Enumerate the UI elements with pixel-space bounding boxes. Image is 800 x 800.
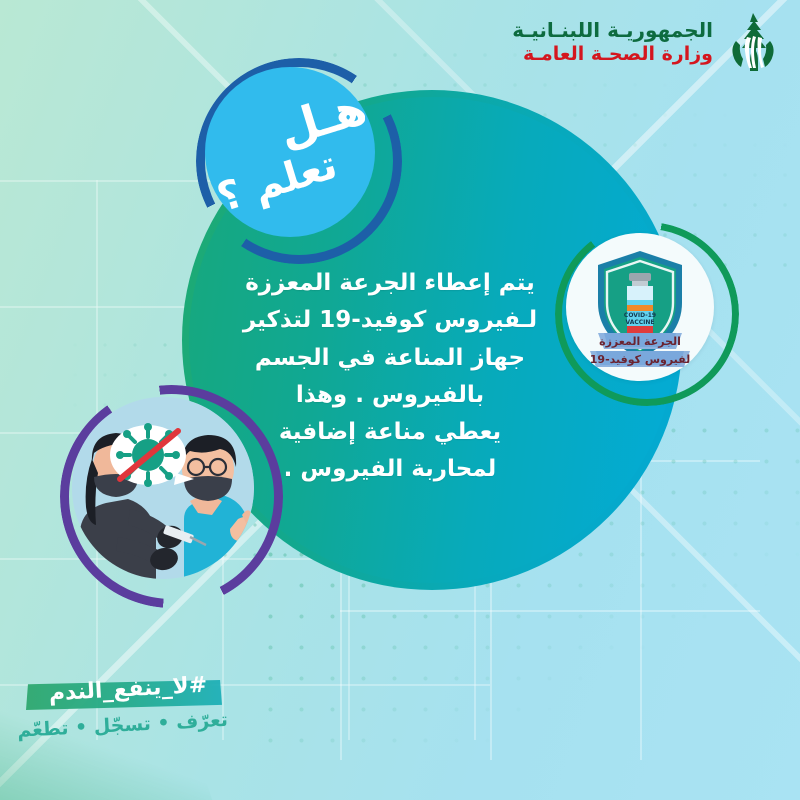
campaign-lockup: #لا_ينفع_الندم تعرّف • تسجّل • تطعّم bbox=[18, 676, 268, 758]
did-you-know-text: هـل تعلم ؟ bbox=[215, 82, 365, 222]
vaccination-photo bbox=[72, 397, 254, 579]
ministry-logo-text: الجمهوريـة اللبنـانيـة وزارة الصحـة العا… bbox=[512, 18, 713, 66]
badge-line-2: تعلم ؟ bbox=[215, 142, 342, 222]
vial-label-line-2: VACCINE bbox=[625, 319, 654, 326]
cedar-tree-icon bbox=[722, 11, 784, 73]
body-line-3: جهاز المناعة في الجسم bbox=[210, 340, 570, 377]
did-you-know-badge: هـل تعلم ؟ bbox=[205, 67, 375, 237]
vial-label-line-1: COVID-19 bbox=[624, 312, 656, 319]
ministry-label: وزارة الصحـة العامـة bbox=[512, 43, 713, 66]
body-line-2: لـفيروس كوفيد-19 لتذكير bbox=[210, 302, 570, 339]
republic-label: الجمهوريـة اللبنـانيـة bbox=[512, 18, 713, 42]
ribbon-bottom-text: لفيروس كوفيد-19 bbox=[590, 353, 690, 366]
vaccine-medallion: COVID-19 VACCINE الجرعة المعززة لفيروس ك… bbox=[566, 233, 714, 381]
body-line-1: يتم إعطاء الجرعة المعززة bbox=[210, 265, 570, 302]
ribbon-top-text: الجرعة المعززة bbox=[599, 335, 681, 348]
campaign-tagline: تعرّف • تسجّل • تطعّم bbox=[28, 709, 229, 741]
shield-vaccine-vial-icon: COVID-19 VACCINE الجرعة المعززة لفيروس ك… bbox=[574, 241, 706, 373]
vaccination-illustration bbox=[72, 397, 254, 579]
body-line-4: بالفيروس . وهذا bbox=[210, 377, 570, 414]
poster-canvas: الجمهوريـة اللبنـانيـة وزارة الصحـة العا… bbox=[0, 0, 800, 800]
ministry-logo: الجمهوريـة اللبنـانيـة وزارة الصحـة العا… bbox=[512, 11, 784, 73]
